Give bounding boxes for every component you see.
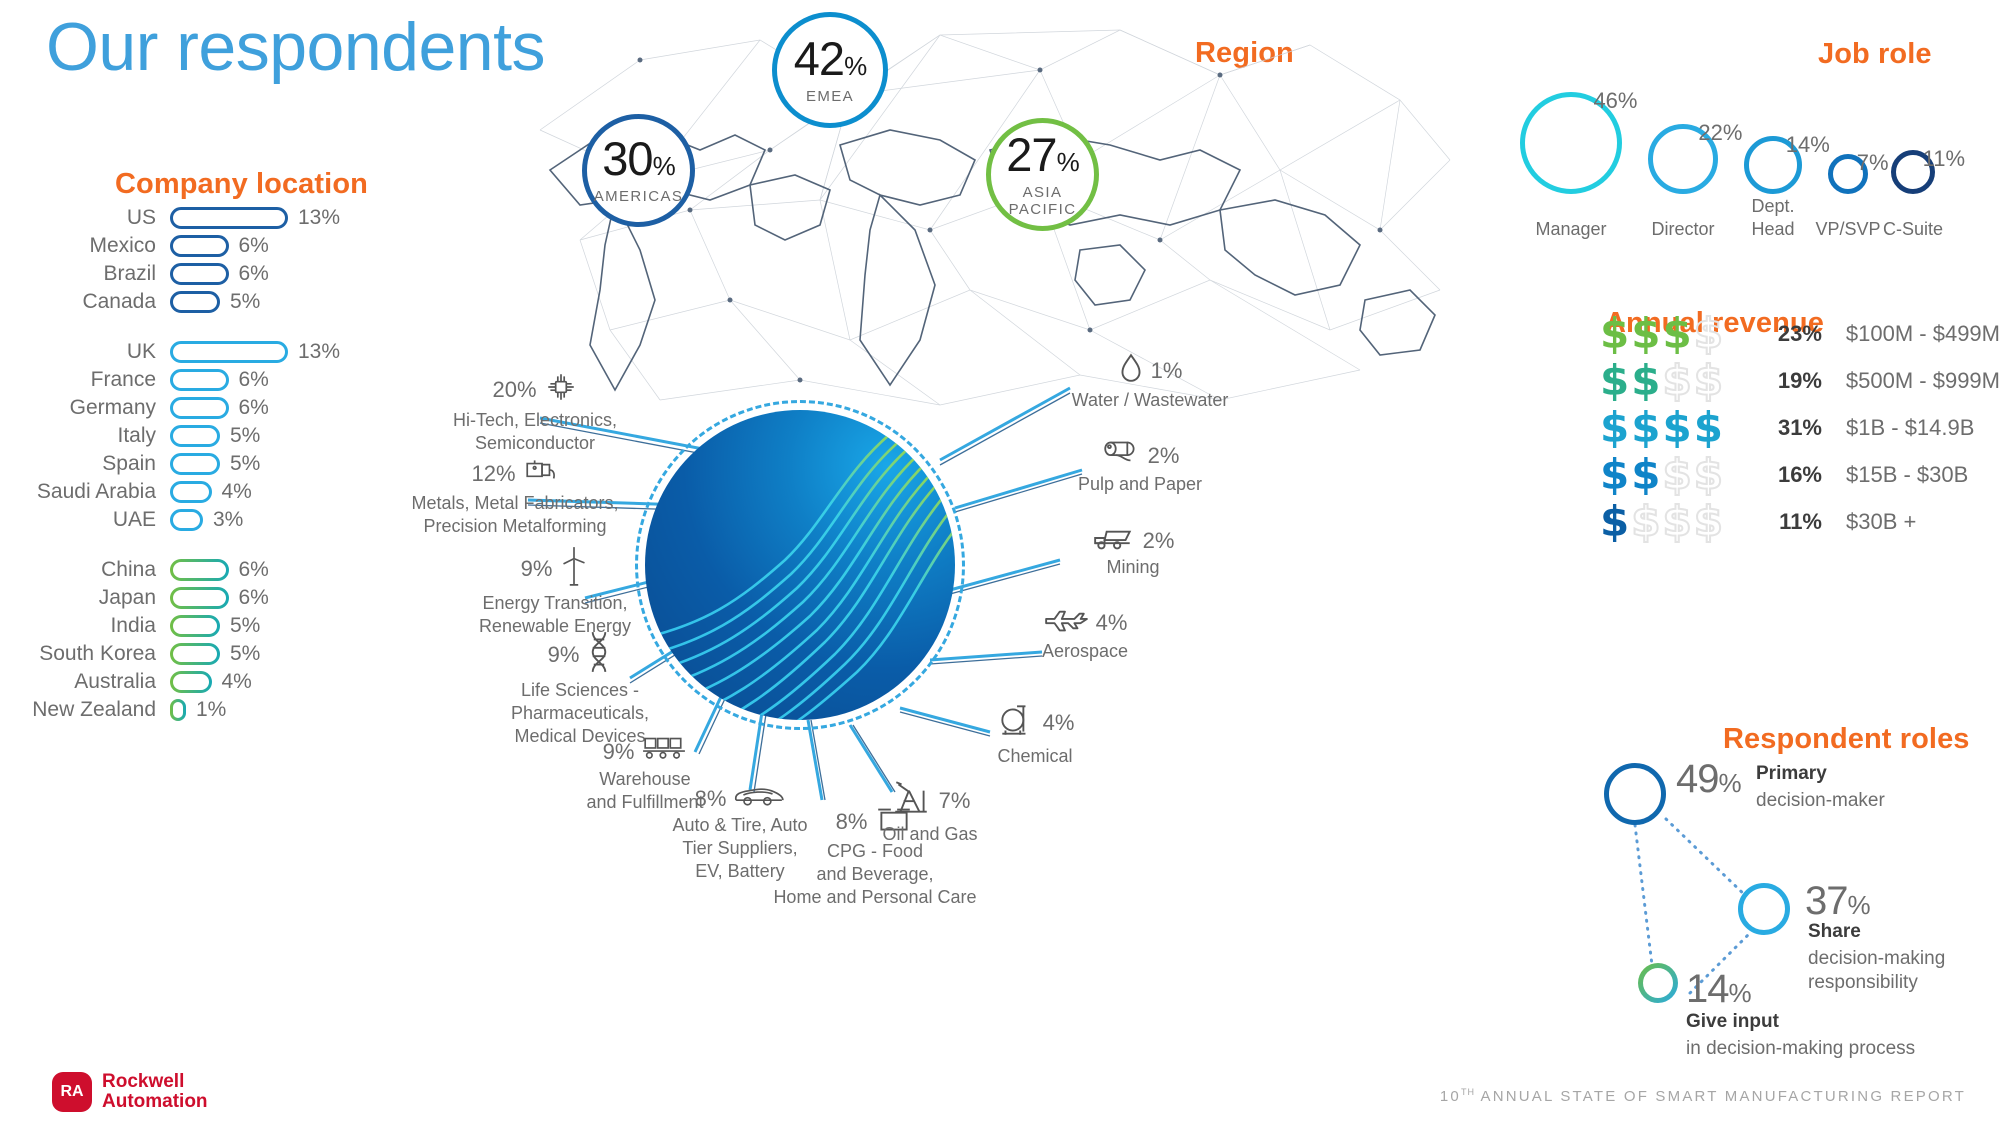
location-row: Mexico6% — [30, 233, 410, 259]
industry-label-aerospace: Aerospace — [985, 640, 1185, 663]
job-role-item-director: 22%Director — [1640, 40, 1726, 240]
dollar-filled-icon: $ — [1600, 313, 1629, 355]
location-bar — [170, 643, 220, 665]
location-row: Spain5% — [30, 451, 410, 477]
respondent-role-bubble-2 — [1738, 883, 1790, 935]
location-bar — [170, 481, 212, 503]
job-role-chart: 46%Manager22%Director14%Dept. Head7%VP/S… — [1520, 40, 1990, 240]
location-label: India — [30, 614, 170, 638]
rockwell-automation-logo: RA Rockwell Automation — [52, 1072, 208, 1112]
respondent-role-description-2: decision-making responsibility — [1808, 947, 1945, 995]
revenue-range-label: $500M - $999M — [1822, 368, 2000, 394]
location-label: Australia — [30, 670, 170, 694]
industry-pct-water: 1% — [1151, 358, 1183, 384]
footer-note-rest: ANNUAL STATE OF SMART MANUFACTURING REPO… — [1475, 1088, 1966, 1105]
location-row: UAE3% — [30, 507, 410, 533]
revenue-row: $$$$11%$30B + — [1600, 498, 2000, 545]
revenue-dollar-icons: $$$$ — [1600, 313, 1760, 355]
company-location-chart: US13%Mexico6%Brazil6%Canada5%UK13%France… — [30, 205, 410, 725]
location-value: 3% — [213, 508, 243, 532]
respondent-role-description-3: in decision-making process — [1686, 1037, 1915, 1061]
revenue-percent: 16% — [1760, 462, 1822, 488]
location-value: 4% — [222, 670, 252, 694]
location-value: 5% — [230, 424, 260, 448]
respondent-role-bold-label-3: Give input — [1686, 1011, 1779, 1033]
industry-node-aerospace: 4% Aerospace — [985, 605, 1185, 663]
dollar-filled-icon: $ — [1631, 407, 1660, 449]
industry-node-life-sciences: 9% Life Sciences - Pharmaceuticals, Medi… — [455, 630, 705, 748]
location-label: China — [30, 558, 170, 582]
location-label: Saudi Arabia — [30, 480, 170, 504]
oil-pump-icon — [890, 778, 932, 823]
dollar-filled-icon: $ — [1600, 501, 1629, 543]
location-row: UK13% — [30, 339, 410, 365]
respondent-role-value-3: 14% — [1686, 967, 1751, 1012]
industry-node-pulp: 2% Pulp and Paper — [1025, 438, 1255, 496]
job-role-value: 46% — [1593, 88, 1637, 114]
location-value: 5% — [230, 290, 260, 314]
location-row: Canada5% — [30, 289, 410, 315]
water-drop-icon — [1118, 352, 1144, 389]
industry-label-mining: Mining — [1028, 556, 1238, 579]
industry-pct-hitech: 20% — [492, 377, 536, 403]
dollar-filled-icon: $ — [1662, 407, 1691, 449]
revenue-percent: 11% — [1760, 509, 1822, 535]
job-role-label: Dept. Head — [1730, 195, 1816, 240]
company-location-title: Company location — [115, 168, 368, 201]
dna-icon — [586, 630, 612, 679]
industry-label-water: Water / Wastewater — [1015, 389, 1285, 412]
location-bar — [170, 615, 220, 637]
location-row: India5% — [30, 613, 410, 639]
location-label: Spain — [30, 452, 170, 476]
revenue-row: $$$$31%$1B - $14.9B — [1600, 404, 2000, 451]
industry-pct-oilgas: 7% — [939, 788, 971, 814]
revenue-dollar-icons: $$$$ — [1600, 501, 1760, 543]
respondent-role-value-1: 49% — [1676, 757, 1741, 802]
region-bubble-asia-pacific: 27% ASIA PACIFIC — [986, 118, 1099, 231]
industry-pct-metals: 12% — [471, 461, 515, 487]
location-value: 4% — [222, 480, 252, 504]
industry-pct-aerospace: 4% — [1096, 610, 1128, 636]
world-map: 30% AMERICAS 42% EMEA 27% ASIA PACIFIC — [520, 0, 1460, 420]
revenue-range-label: $15B - $30B — [1822, 462, 1968, 488]
dollar-filled-icon: $ — [1631, 360, 1660, 402]
location-value: 6% — [239, 396, 269, 420]
location-bar — [170, 207, 288, 229]
dollar-filled-icon: $ — [1600, 454, 1629, 496]
dollar-empty-icon: $ — [1662, 360, 1691, 402]
location-bar — [170, 235, 229, 257]
location-row: Brazil6% — [30, 261, 410, 287]
location-value: 6% — [239, 558, 269, 582]
location-label: New Zealand — [30, 698, 170, 722]
location-row: South Korea5% — [30, 641, 410, 667]
page-title: Our respondents — [46, 8, 545, 86]
industry-node-chemical: 4% Chemical — [940, 700, 1130, 768]
revenue-dollar-icons: $$$$ — [1600, 407, 1760, 449]
location-label: Brazil — [30, 262, 170, 286]
job-role-label: C-Suite — [1870, 218, 1956, 241]
job-role-item-depthead: 14%Dept. Head — [1730, 40, 1816, 240]
dollar-empty-icon: $ — [1694, 501, 1723, 543]
location-label: US — [30, 206, 170, 230]
location-row: US13% — [30, 205, 410, 231]
region-name-emea: EMEA — [806, 88, 854, 105]
industry-pct-pulp: 2% — [1148, 443, 1180, 469]
location-bar — [170, 671, 212, 693]
location-label: Germany — [30, 396, 170, 420]
dollar-filled-icon: $ — [1631, 454, 1660, 496]
location-bar — [170, 587, 229, 609]
annual-revenue-chart: $$$$23%$100M - $499M$$$$19%$500M - $999M… — [1600, 310, 2000, 545]
industry-node-oilgas: 7% Oil and Gas — [835, 778, 1025, 846]
revenue-row: $$$$19%$500M - $999M — [1600, 357, 2000, 404]
location-bar — [170, 291, 220, 313]
footer-note-prefix: 10 — [1440, 1088, 1461, 1105]
location-label: Mexico — [30, 234, 170, 258]
location-value: 13% — [298, 206, 340, 230]
location-value: 6% — [239, 586, 269, 610]
wind-turbine-icon — [559, 545, 589, 592]
revenue-percent: 31% — [1760, 415, 1822, 441]
respondent-role-bold-label-1: Primary — [1756, 763, 1827, 785]
location-bar — [170, 369, 229, 391]
location-value: 1% — [196, 698, 226, 722]
location-label: UAE — [30, 508, 170, 532]
dollar-filled-icon: $ — [1600, 407, 1629, 449]
location-label: Japan — [30, 586, 170, 610]
dollar-filled-icon: $ — [1694, 407, 1723, 449]
region-name-americas: AMERICAS — [594, 188, 684, 205]
logo-text: Rockwell Automation — [102, 1072, 208, 1112]
location-row: China6% — [30, 557, 410, 583]
location-bar — [170, 263, 229, 285]
revenue-range-label: $1B - $14.9B — [1822, 415, 1974, 441]
industry-pct-auto: 8% — [695, 786, 727, 812]
location-row: Saudi Arabia4% — [30, 479, 410, 505]
revenue-range-label: $30B + — [1822, 509, 1916, 535]
industry-pct-life-sciences: 9% — [548, 642, 580, 668]
revenue-dollar-icons: $$$$ — [1600, 360, 1760, 402]
dollar-empty-icon: $ — [1694, 454, 1723, 496]
location-value: 5% — [230, 614, 260, 638]
chemical-tank-icon — [996, 700, 1036, 745]
revenue-row: $$$$16%$15B - $30B — [1600, 451, 2000, 498]
location-label: Canada — [30, 290, 170, 314]
industry-node-energy: 9% Energy Transition, Renewable Energy — [440, 545, 670, 638]
footer-report-note: 10TH ANNUAL STATE OF SMART MANUFACTURING… — [1440, 1087, 1966, 1105]
region-bubble-americas: 30% AMERICAS — [582, 114, 695, 227]
revenue-dollar-icons: $$$$ — [1600, 454, 1760, 496]
industry-label-metals: Metals, Metal Fabricators, Precision Met… — [375, 492, 655, 538]
location-label: France — [30, 368, 170, 392]
region-value-emea: 42% — [794, 35, 866, 82]
footer-note-superscript: TH — [1461, 1087, 1475, 1097]
industry-node-metals: 12% Metals, Metal Fabricators, Precision… — [375, 455, 655, 538]
industry-pct-mining: 2% — [1143, 528, 1175, 554]
revenue-percent: 23% — [1760, 321, 1822, 347]
dollar-empty-icon: $ — [1694, 360, 1723, 402]
location-value: 5% — [230, 642, 260, 666]
location-label: UK — [30, 340, 170, 364]
location-group-gap — [30, 535, 410, 557]
respondent-role-description-1: decision-maker — [1756, 789, 1885, 813]
location-value: 6% — [239, 368, 269, 392]
respondent-role-value-2: 37% — [1805, 879, 1870, 924]
metal-pour-icon — [523, 455, 559, 492]
location-bar — [170, 397, 229, 419]
region-bubble-emea: 42% EMEA — [772, 12, 888, 128]
job-role-label: Director — [1640, 218, 1726, 241]
location-bar — [170, 341, 288, 363]
dump-truck-icon — [1092, 525, 1136, 556]
location-row: New Zealand1% — [30, 697, 410, 723]
location-group-gap — [30, 317, 410, 339]
industry-label-cpg: CPG - Food and Beverage, Home and Person… — [730, 840, 1020, 909]
location-value: 5% — [230, 452, 260, 476]
location-bar — [170, 509, 203, 531]
industry-label-chemical: Chemical — [940, 745, 1130, 768]
job-role-item-csuite: 11%C-Suite — [1870, 40, 1956, 240]
location-row: Italy5% — [30, 423, 410, 449]
job-role-item-manager: 46%Manager — [1520, 40, 1622, 240]
industry-label-pulp: Pulp and Paper — [1025, 473, 1255, 496]
chip-icon — [544, 370, 578, 409]
conveyor-icon — [641, 735, 687, 768]
industry-label-oilgas: Oil and Gas — [835, 823, 1025, 846]
respondent-role-bold-label-2: Share — [1808, 921, 1861, 943]
location-label: Italy — [30, 424, 170, 448]
region-name-asia-pacific: ASIA PACIFIC — [991, 184, 1094, 219]
industry-pct-chemical: 4% — [1043, 710, 1075, 736]
respondent-roles-chart: 49%Primarydecision-maker37%Sharedecision… — [1590, 715, 2000, 1045]
location-row: Germany6% — [30, 395, 410, 421]
industry-chart: 20% Hi-Tech, Electronics, Semiconductor … — [430, 360, 1560, 1100]
location-bar — [170, 453, 220, 475]
dollar-filled-icon: $ — [1631, 313, 1660, 355]
job-role-label: Manager — [1520, 218, 1622, 241]
dollar-filled-icon: $ — [1600, 360, 1629, 402]
industry-node-hitech: 20% Hi-Tech, Electronics, Semiconductor — [420, 370, 650, 455]
dollar-filled-icon: $ — [1662, 313, 1691, 355]
industry-pct-warehouse: 9% — [603, 739, 635, 765]
location-label: South Korea — [30, 642, 170, 666]
logo-badge-icon: RA — [52, 1072, 92, 1112]
location-value: 6% — [239, 262, 269, 286]
location-row: Australia4% — [30, 669, 410, 695]
region-value-asia-pacific: 27% — [1006, 131, 1078, 178]
infographic-canvas: Our respondents Company location US13%Me… — [0, 0, 2004, 1143]
dollar-empty-icon: $ — [1662, 501, 1691, 543]
respondent-role-bubble-1 — [1604, 763, 1666, 825]
industry-pct-energy: 9% — [521, 556, 553, 582]
region-value-americas: 30% — [602, 135, 674, 182]
revenue-row: $$$$23%$100M - $499M — [1600, 310, 2000, 357]
dollar-empty-icon: $ — [1662, 454, 1691, 496]
revenue-range-label: $100M - $499M — [1822, 321, 2000, 347]
location-bar — [170, 425, 220, 447]
paper-roll-icon — [1101, 438, 1141, 473]
industry-node-water: 1% Water / Wastewater — [1015, 352, 1285, 412]
location-value: 13% — [298, 340, 340, 364]
dollar-empty-icon: $ — [1694, 313, 1723, 355]
location-row: France6% — [30, 367, 410, 393]
location-bar — [170, 559, 229, 581]
industry-node-mining: 2% Mining — [1028, 525, 1238, 579]
location-row: Japan6% — [30, 585, 410, 611]
location-bar — [170, 699, 186, 721]
location-value: 6% — [239, 234, 269, 258]
industry-label-hitech: Hi-Tech, Electronics, Semiconductor — [420, 409, 650, 455]
airplane-icon — [1043, 605, 1089, 640]
dollar-empty-icon: $ — [1631, 501, 1660, 543]
respondent-role-bubble-3 — [1638, 963, 1678, 1003]
revenue-percent: 19% — [1760, 368, 1822, 394]
job-role-value: 11% — [1923, 146, 1965, 172]
